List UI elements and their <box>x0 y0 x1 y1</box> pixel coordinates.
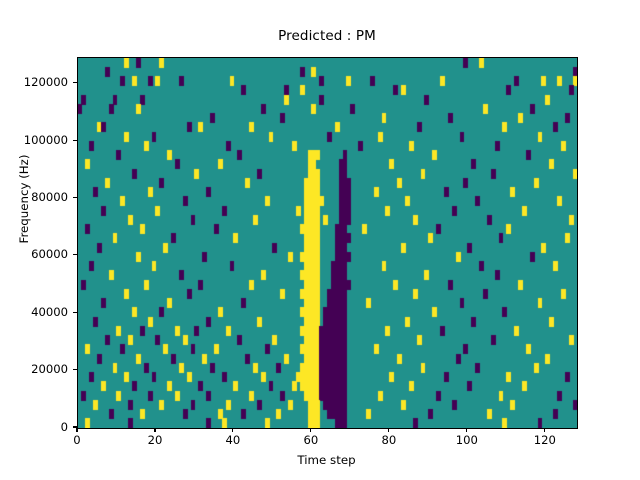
x-tick-label: 120 <box>515 433 575 447</box>
heatmap-axes <box>77 57 578 429</box>
chart-title: Predicted : PM <box>77 28 577 44</box>
x-tick <box>154 428 155 432</box>
y-tick-label: 0 <box>0 420 68 434</box>
x-tick-label: 60 <box>281 433 341 447</box>
matplotlib-figure: Predicted : PM 020406080100120 020000400… <box>0 0 640 480</box>
y-tick-label: 100000 <box>0 133 68 147</box>
y-axis-label: Frequency (Hz) <box>17 119 31 279</box>
y-tick <box>73 197 77 198</box>
x-tick-label: 0 <box>47 433 107 447</box>
y-tick <box>73 254 77 255</box>
y-tick <box>73 426 77 427</box>
x-axis-label: Time step <box>77 453 576 467</box>
y-tick <box>73 369 77 370</box>
y-tick-label: 120000 <box>0 75 68 89</box>
y-tick <box>73 82 77 83</box>
x-tick-label: 20 <box>125 433 185 447</box>
y-tick <box>73 312 77 313</box>
x-tick <box>310 428 311 432</box>
x-tick <box>232 428 233 432</box>
x-tick-label: 80 <box>359 433 419 447</box>
x-tick <box>466 428 467 432</box>
x-tick-label: 40 <box>203 433 263 447</box>
x-tick <box>544 428 545 432</box>
x-tick <box>388 428 389 432</box>
y-tick-label: 20000 <box>0 362 68 376</box>
y-tick <box>73 140 77 141</box>
y-tick-label: 60000 <box>0 247 68 261</box>
y-tick-label: 80000 <box>0 190 68 204</box>
x-tick <box>76 428 77 432</box>
y-tick-label: 40000 <box>0 305 68 319</box>
heatmap-image <box>78 58 577 428</box>
x-tick-label: 100 <box>437 433 497 447</box>
